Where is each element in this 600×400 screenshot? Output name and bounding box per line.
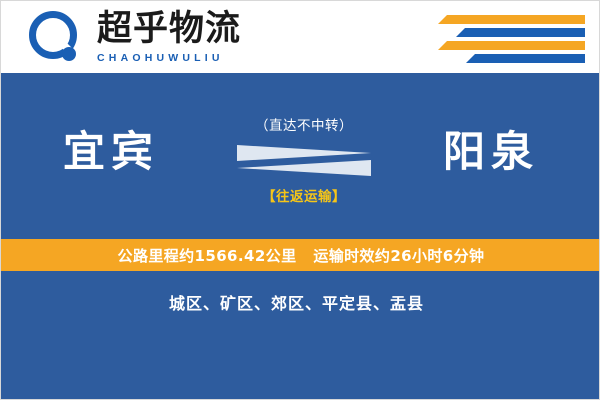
brand-name-en: CHAOHUWULIU [97, 52, 317, 64]
distance-bar: 公路里程约1566.42公里 运输时效约26小时6分钟 [1, 239, 600, 271]
arrow-left-icon [237, 160, 371, 176]
route-middle: （直达不中转） 【往返运输】 [229, 117, 379, 205]
origin-city: 宜宾 [63, 125, 159, 179]
brand-name-cn: 超乎物流 [97, 9, 317, 49]
logo-dot-shape [62, 47, 76, 61]
logistics-route-banner: 超乎物流 CHAOHUWULIU 宜宾 （直达不中转） 【往返运输】 阳泉 公路… [0, 0, 600, 400]
brand-text: 超乎物流 CHAOHUWULIU [97, 9, 317, 64]
distance-duration-text: 公路里程约1566.42公里 运输时效约26小时6分钟 [118, 245, 485, 266]
speed-line-1 [447, 15, 585, 24]
speed-line-4 [475, 54, 585, 63]
coverage-panel: 城区、矿区、郊区、平定县、盂县 [1, 271, 600, 399]
speed-line-2 [465, 28, 585, 37]
route-panel: 宜宾 （直达不中转） 【往返运输】 阳泉 [1, 73, 600, 239]
header: 超乎物流 CHAOHUWULIU [1, 1, 600, 73]
circle-logistics-logo-icon [29, 11, 85, 67]
arrow-right-icon [237, 145, 371, 161]
speed-line-3 [447, 41, 585, 50]
coverage-areas: 城区、矿区、郊区、平定县、盂县 [169, 291, 589, 317]
return-transport-badge: 【往返运输】 [229, 185, 379, 205]
speed-lines-icon [445, 15, 585, 61]
direct-badge: （直达不中转） [229, 117, 379, 135]
destination-city: 阳泉 [443, 125, 539, 179]
bidirectional-arrows [229, 143, 379, 177]
